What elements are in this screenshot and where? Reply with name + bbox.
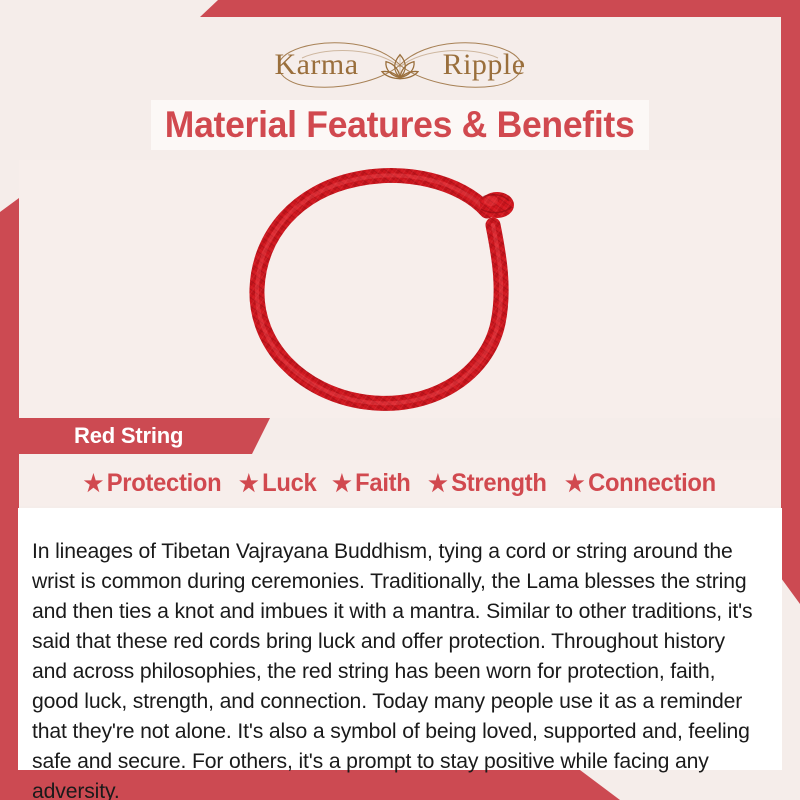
infographic-card: Karma Ripple Material Features & Benefit… <box>0 0 800 800</box>
star-icon: ★ <box>332 472 351 495</box>
material-badge: Red String <box>18 418 270 454</box>
brand-name-left: Karma <box>274 50 358 80</box>
star-icon: ★ <box>428 472 447 495</box>
star-icon: ★ <box>565 472 584 495</box>
benefit-label: Strength <box>451 469 546 498</box>
description-block: In lineages of Tibetan Vajrayana Buddhis… <box>18 508 782 770</box>
material-badge-label: Red String <box>74 423 183 449</box>
benefit-label: Luck <box>262 469 316 498</box>
description-paragraph: In lineages of Tibetan Vajrayana Buddhis… <box>32 536 757 800</box>
page-title: Material Features & Benefits <box>165 104 635 146</box>
benefit-strength: ★ Strength <box>423 469 551 498</box>
title-band: Material Features & Benefits <box>151 100 649 150</box>
top-red-band <box>200 0 800 17</box>
lotus-icon <box>380 50 420 82</box>
benefit-label: Faith <box>355 469 410 498</box>
braided-bracelet-image <box>235 163 565 415</box>
benefit-label: Connection <box>589 469 717 498</box>
brand-logo: Karma Ripple <box>0 36 800 94</box>
benefit-connection: ★ Connection <box>561 469 721 498</box>
benefits-row: ★ Protection ★ Luck ★ Faith ★ Strength ★… <box>19 460 781 506</box>
brand-logo-inner: Karma Ripple <box>274 50 525 80</box>
benefit-faith: ★ Faith <box>327 469 415 498</box>
benefit-label: Protection <box>106 469 221 498</box>
benefit-protection: ★ Protection <box>79 469 226 498</box>
product-image-area <box>19 160 781 418</box>
left-red-strip <box>0 198 19 800</box>
brand-name-right: Ripple <box>443 50 526 80</box>
star-icon: ★ <box>83 472 102 495</box>
benefit-luck: ★ Luck <box>234 469 321 498</box>
star-icon: ★ <box>239 472 258 495</box>
